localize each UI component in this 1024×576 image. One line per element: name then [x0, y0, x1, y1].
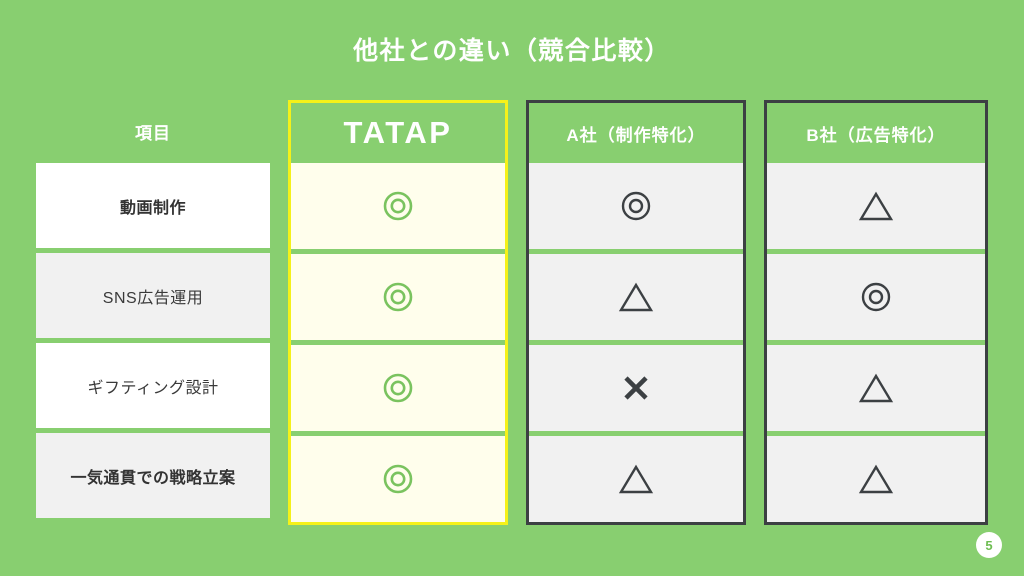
table-cell-b-3 [767, 436, 985, 522]
slide-container: 他社との違い（競合比較） 項目 動画制作 SNS広告運用 ギフティング設計 一気… [0, 0, 1024, 576]
table-cell-tatap-0 [291, 163, 505, 249]
page-title: 他社との違い（競合比較） [0, 36, 1024, 66]
double-circle-mark [620, 190, 652, 222]
tatap-logo: TATAP [344, 115, 453, 151]
column-header-company-a: A社（制作特化） [529, 103, 743, 163]
column-header-company-b: B社（広告特化） [767, 103, 985, 163]
cross-mark [621, 373, 651, 403]
table-row: SNS広告運用 [36, 253, 270, 338]
double-circle-mark [382, 281, 414, 313]
table-column-company-a: A社（制作特化） [526, 100, 746, 525]
double-circle-mark [382, 463, 414, 495]
double-circle-mark [382, 190, 414, 222]
table-column-company-b: B社（広告特化） [764, 100, 988, 525]
column-header-company-a-label: A社（制作特化） [566, 121, 705, 146]
double-circle-mark [860, 281, 892, 313]
column-header-company-b-label: B社（広告特化） [806, 121, 945, 146]
table-cell-a-3 [529, 436, 743, 522]
table-row: 一気通貫での戦略立案 [36, 433, 270, 518]
table-cell-b-1 [767, 254, 985, 340]
column-header-item-label: 項目 [135, 119, 171, 144]
table-cell-a-2 [529, 345, 743, 431]
table-cell-a-0 [529, 163, 743, 249]
triangle-mark [618, 281, 654, 313]
triangle-mark [858, 190, 894, 222]
column-header-item: 項目 [36, 100, 270, 163]
table-cell-tatap-2 [291, 345, 505, 431]
table-cell-b-0 [767, 163, 985, 249]
table-column-item: 項目 動画制作 SNS広告運用 ギフティング設計 一気通貫での戦略立案 [36, 100, 270, 525]
comparison-table: 項目 動画制作 SNS広告運用 ギフティング設計 一気通貫での戦略立案 TATA… [36, 100, 988, 525]
column-header-tatap: TATAP [291, 103, 505, 163]
triangle-mark [858, 372, 894, 404]
row-label-2: ギフティング設計 [87, 374, 218, 398]
table-row: ギフティング設計 [36, 343, 270, 428]
page-number-badge: 5 [976, 532, 1002, 558]
table-cell-tatap-3 [291, 436, 505, 522]
double-circle-mark [382, 372, 414, 404]
page-number-label: 5 [985, 538, 992, 553]
table-cell-tatap-1 [291, 254, 505, 340]
table-row: 動画制作 [36, 163, 270, 248]
triangle-mark [618, 463, 654, 495]
table-column-tatap: TATAP [288, 100, 508, 525]
table-cell-b-2 [767, 345, 985, 431]
table-cell-a-1 [529, 254, 743, 340]
triangle-mark [858, 463, 894, 495]
row-label-3: 一気通貫での戦略立案 [70, 464, 235, 488]
row-label-0: 動画制作 [120, 194, 186, 218]
row-label-1: SNS広告運用 [103, 284, 203, 308]
